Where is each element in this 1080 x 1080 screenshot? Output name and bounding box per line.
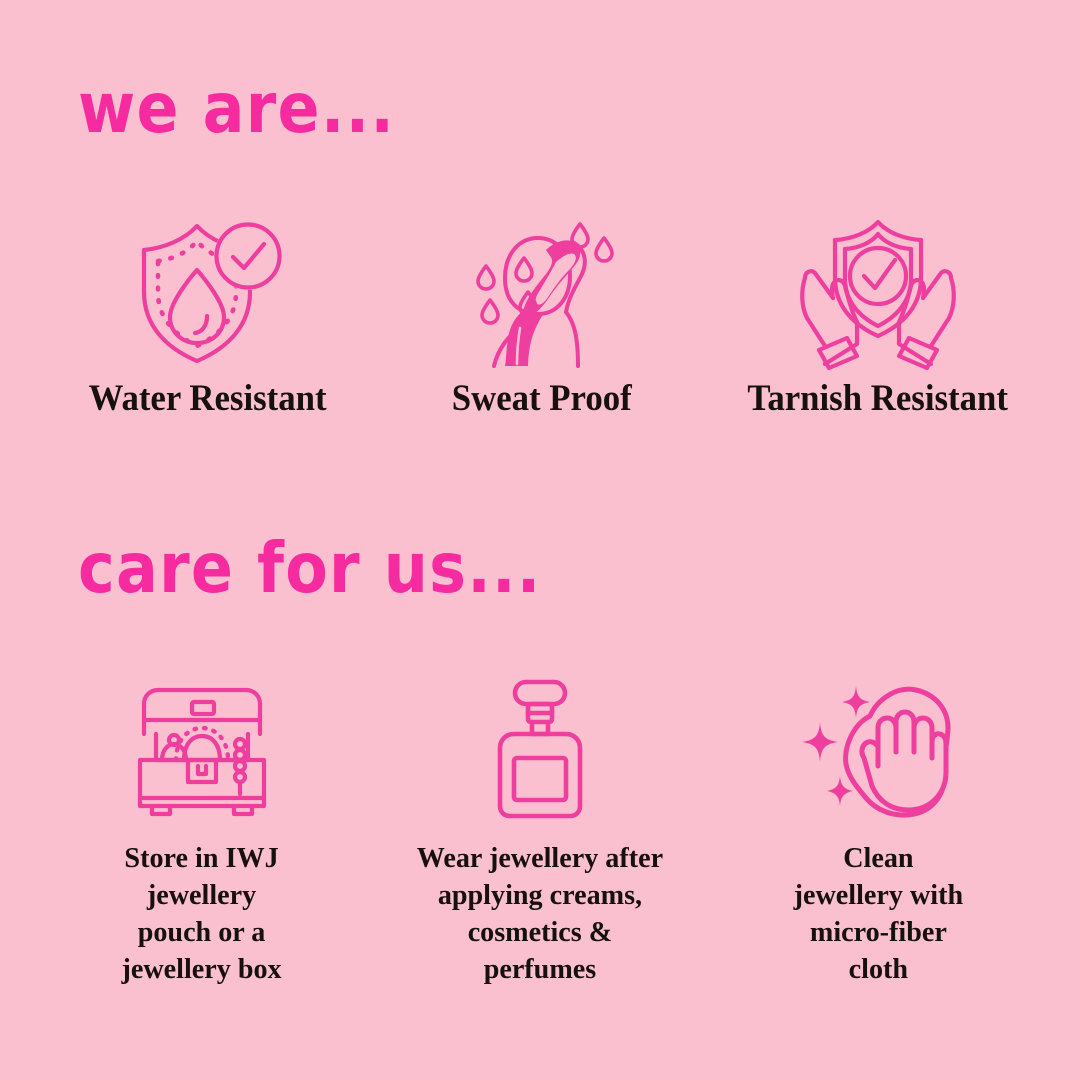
- feature-label: Sweat Proof: [452, 380, 632, 419]
- hands-holding-shield-check-icon: [795, 216, 961, 366]
- feature-item-water-resistant: Water Resistant: [41, 214, 375, 419]
- care-item-store: Store in IWJ jewellery pouch or a jewell…: [33, 672, 371, 988]
- care-icon-container: [126, 672, 278, 820]
- jewellery-box-icon: [126, 682, 278, 820]
- page-title-we-are: we are...: [78, 74, 395, 143]
- person-sweating-towel-icon: [462, 216, 622, 366]
- page-title-care-for-us: care for us...: [78, 534, 542, 603]
- feature-icon-container: [462, 214, 622, 366]
- feature-icon-container: [128, 214, 288, 366]
- hand-cloth-sparkles-icon: [798, 680, 958, 820]
- care-item-perfume: Wear jewellery after applying creams, co…: [371, 672, 709, 988]
- feature-label: Water Resistant: [89, 380, 327, 419]
- care-icon-container: [480, 672, 600, 820]
- shield-water-drop-check-icon: [128, 216, 288, 366]
- features-row: Water Resistant: [0, 214, 1080, 419]
- feature-item-tarnish-resistant: Tarnish Resistant: [711, 214, 1045, 419]
- care-label: Wear jewellery after applying creams, co…: [417, 840, 663, 988]
- feature-label: Tarnish Resistant: [748, 380, 1009, 419]
- care-label: Store in IWJ jewellery pouch or a jewell…: [122, 840, 282, 988]
- care-icon-container: [798, 672, 958, 820]
- care-label: Clean jewellery with micro-fiber cloth: [793, 840, 963, 988]
- care-row: Store in IWJ jewellery pouch or a jewell…: [0, 672, 1080, 988]
- feature-icon-container: [795, 214, 961, 366]
- perfume-bottle-icon: [480, 678, 600, 820]
- feature-item-sweat-proof: Sweat Proof: [375, 214, 709, 419]
- infographic-page: we are...: [0, 0, 1080, 1080]
- care-item-clean: Clean jewellery with micro-fiber cloth: [709, 672, 1047, 988]
